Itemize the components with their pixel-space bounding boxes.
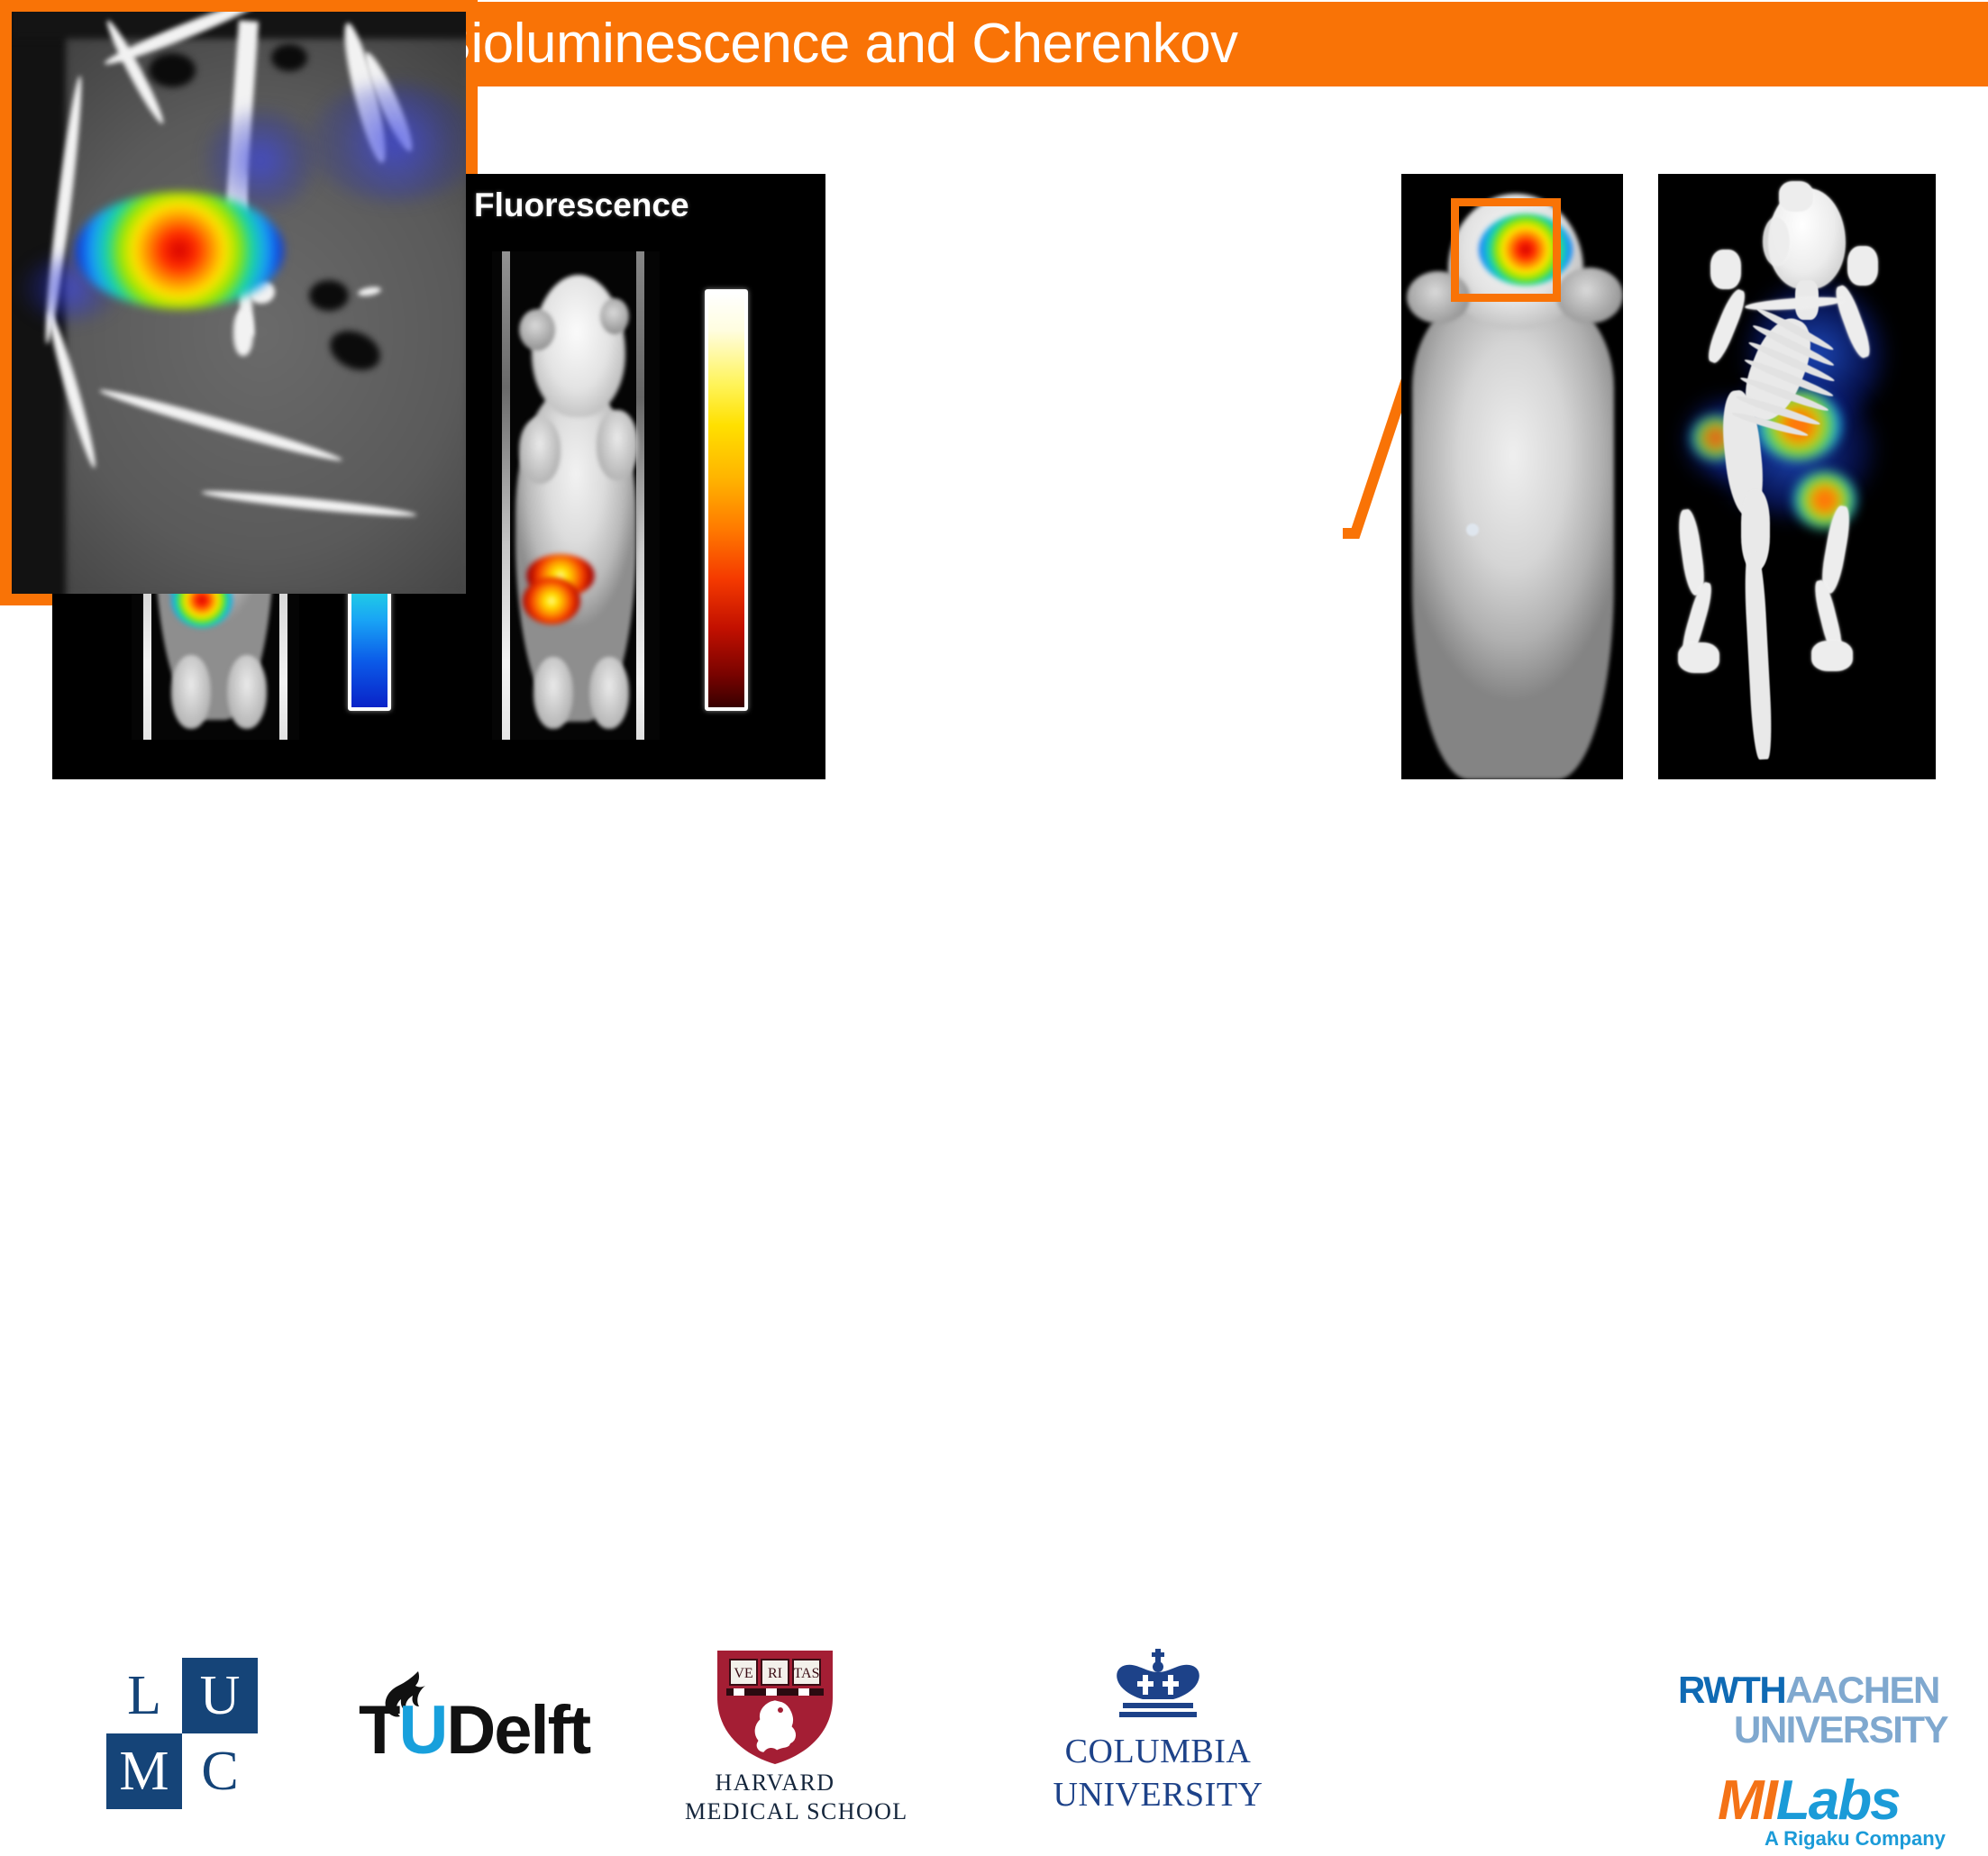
tud-letter-t: T — [359, 1692, 398, 1769]
mouse-ear-right — [600, 298, 629, 334]
rwth-line-2: UNIVERSITY — [1734, 1711, 1947, 1749]
mouse-nipple-marker — [1466, 523, 1479, 536]
fluorescence-label: Fluorescence — [474, 188, 689, 222]
harvard-line-2: MEDICAL SCHOOL — [685, 1798, 865, 1825]
skeleton-tail — [1743, 552, 1774, 760]
milabs-tagline: A Rigaku Company — [1765, 1829, 1946, 1849]
lumc-letter-m: M — [106, 1733, 182, 1809]
skeleton-jaw — [1763, 217, 1790, 266]
ct-slice-image — [12, 12, 466, 594]
mouse-body — [1412, 289, 1614, 779]
columbia-university-logo[interactable]: COLUMBIA UNIVERSITY — [1045, 1647, 1271, 1827]
svg-text:RI: RI — [768, 1666, 782, 1681]
milabs-mi: MI — [1718, 1770, 1776, 1832]
mouse-shoulder-right — [1556, 268, 1623, 323]
tud-word-delft: Delft — [446, 1692, 589, 1769]
rwth-line-1: RWTHAACHEN — [1678, 1671, 1939, 1709]
milabs-wordmark: MILabs — [1718, 1773, 1900, 1829]
hot-colorbar — [705, 289, 748, 711]
skeleton-paw-right — [1847, 246, 1878, 286]
columbia-line-2: UNIVERSITY — [1045, 1775, 1271, 1815]
tu-delft-wordmark: TUDelft — [359, 1697, 589, 1765]
harvard-medical-school-logo[interactable]: VE RI TAS HARVARD MEDICAL SCHOOL — [685, 1647, 865, 1827]
roi-box[interactable] — [1451, 198, 1561, 302]
mouse-forelimb-left — [519, 417, 561, 484]
skeleton-hindpaw-left — [1678, 642, 1719, 673]
fluorescence-signal-core — [523, 578, 580, 624]
tube-rail-left — [502, 251, 510, 740]
tube-rail-right — [636, 251, 644, 740]
svg-text:TAS: TAS — [794, 1666, 820, 1681]
tud-letter-u: U — [398, 1692, 446, 1769]
ct-bone-fragment-b — [233, 309, 253, 356]
skeleton-snout — [1779, 181, 1813, 212]
partner-logo-strip: L U M C TUDelft VE RI TAS HARVARD MEDICA… — [0, 811, 1988, 1051]
mouse-hindlimb-left — [533, 657, 573, 729]
svg-text:VE: VE — [734, 1666, 752, 1681]
lumc-logo[interactable]: L U M C — [106, 1658, 258, 1809]
tu-delft-logo[interactable]: TUDelft — [359, 1680, 620, 1779]
fluorescence-mouse-image — [492, 251, 660, 740]
skeleton-panel — [1658, 174, 1936, 779]
milabs-logo[interactable]: MILabs A Rigaku Company — [1692, 1773, 1945, 1856]
rwth-aachen: AACHEN — [1785, 1669, 1939, 1711]
harvard-line-1: HARVARD — [685, 1770, 865, 1797]
mouse-hindlimb-right — [227, 655, 267, 729]
skeleton-hindpaw-right — [1811, 641, 1853, 671]
ct-air-pocket-top — [271, 44, 307, 71]
mouse-roi-panel — [1401, 174, 1623, 779]
lumc-letter-c: C — [182, 1733, 258, 1809]
skeleton-forelimb-left — [1704, 287, 1750, 365]
mouse-ear-left — [519, 309, 555, 350]
lumc-letter-l: L — [106, 1658, 182, 1733]
mouse-hindlimb-right — [589, 657, 629, 729]
columbia-line-1: COLUMBIA — [1045, 1732, 1271, 1771]
ct-diffuse-signal-mid — [206, 111, 315, 210]
mouse-forelimb-right — [597, 410, 638, 480]
ct-air-pocket-mid — [149, 53, 196, 87]
mouse-hindlimb-left — [171, 655, 211, 729]
lumc-letter-u: U — [182, 1658, 258, 1733]
ct-zoom-panel — [0, 0, 478, 605]
skeleton-paw-left — [1710, 250, 1741, 289]
milabs-labs: Labs — [1776, 1770, 1900, 1832]
harvard-shield-icon: VE RI TAS — [712, 1647, 838, 1766]
ct-tumour-hotspot — [75, 192, 284, 309]
rwth-wordmark: RWTH — [1678, 1669, 1785, 1711]
crown-icon — [1112, 1647, 1204, 1717]
ct-air-pocket-right — [309, 280, 349, 311]
rwth-aachen-university-logo[interactable]: RWTHAACHEN UNIVERSITY — [1678, 1671, 1948, 1754]
